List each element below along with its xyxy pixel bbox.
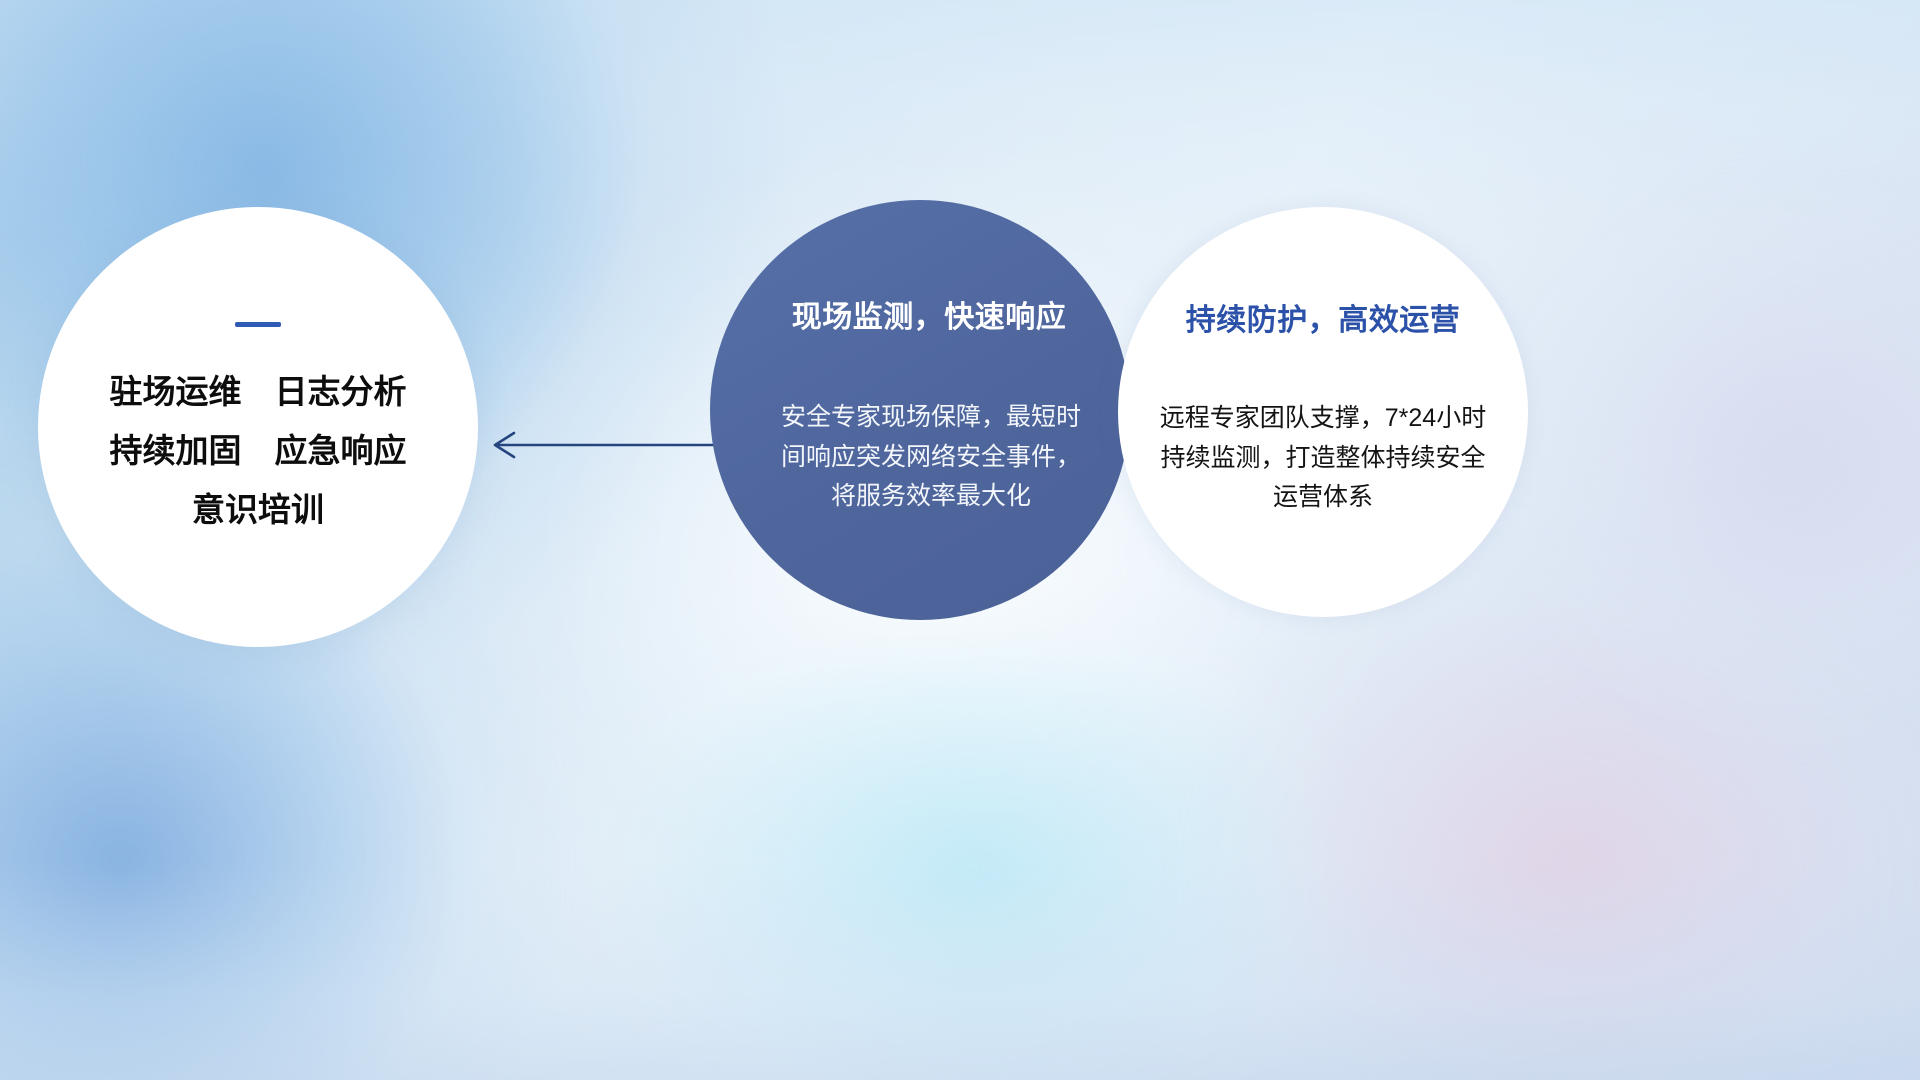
left-arrow-icon [480, 400, 740, 490]
right-circle-title: 持续防护，高效运营 [1186, 295, 1461, 339]
background-blob-lavender-upper [1460, 150, 1920, 770]
middle-circle-body: 安全专家现场保障，最短时间响应突发网络安全事件，将服务效率最大化 [781, 398, 1081, 517]
right-circle-body: 远程专家团队支撑，7*24小时持续监测，打造整体持续安全运营体系 [1150, 399, 1496, 518]
right-circle-card[interactable]: 持续防护，高效运营 远程专家团队支撑，7*24小时持续监测，打造整体持续安全运营… [1118, 207, 1528, 617]
right-circle-content: 持续防护，高效运营 远程专家团队支撑，7*24小时持续监测，打造整体持续安全运营… [1118, 207, 1528, 617]
middle-circle-title: 现场监测，快速响应 [792, 292, 1067, 336]
list-item: 意识培训 [110, 493, 407, 526]
left-circle-card[interactable]: 驻场运维 日志分析 持续加固 应急响应 意识培训 [38, 207, 478, 647]
list-item: 持续加固 应急响应 [110, 434, 407, 467]
left-circle-capability-list: 驻场运维 日志分析 持续加固 应急响应 意识培训 [110, 375, 407, 526]
background-bottom-band [0, 860, 1920, 1080]
short-dash-divider-icon [235, 322, 281, 327]
slide-canvas: 现场监测，快速响应 安全专家现场保障，最短时间响应突发网络安全事件，将服务效率最… [0, 0, 1920, 1080]
middle-circle-card[interactable]: 现场监测，快速响应 安全专家现场保障，最短时间响应突发网络安全事件，将服务效率最… [710, 200, 1130, 620]
list-item: 驻场运维 日志分析 [110, 375, 407, 408]
middle-circle-content: 现场监测，快速响应 安全专家现场保障，最短时间响应突发网络安全事件，将服务效率最… [734, 200, 1106, 620]
